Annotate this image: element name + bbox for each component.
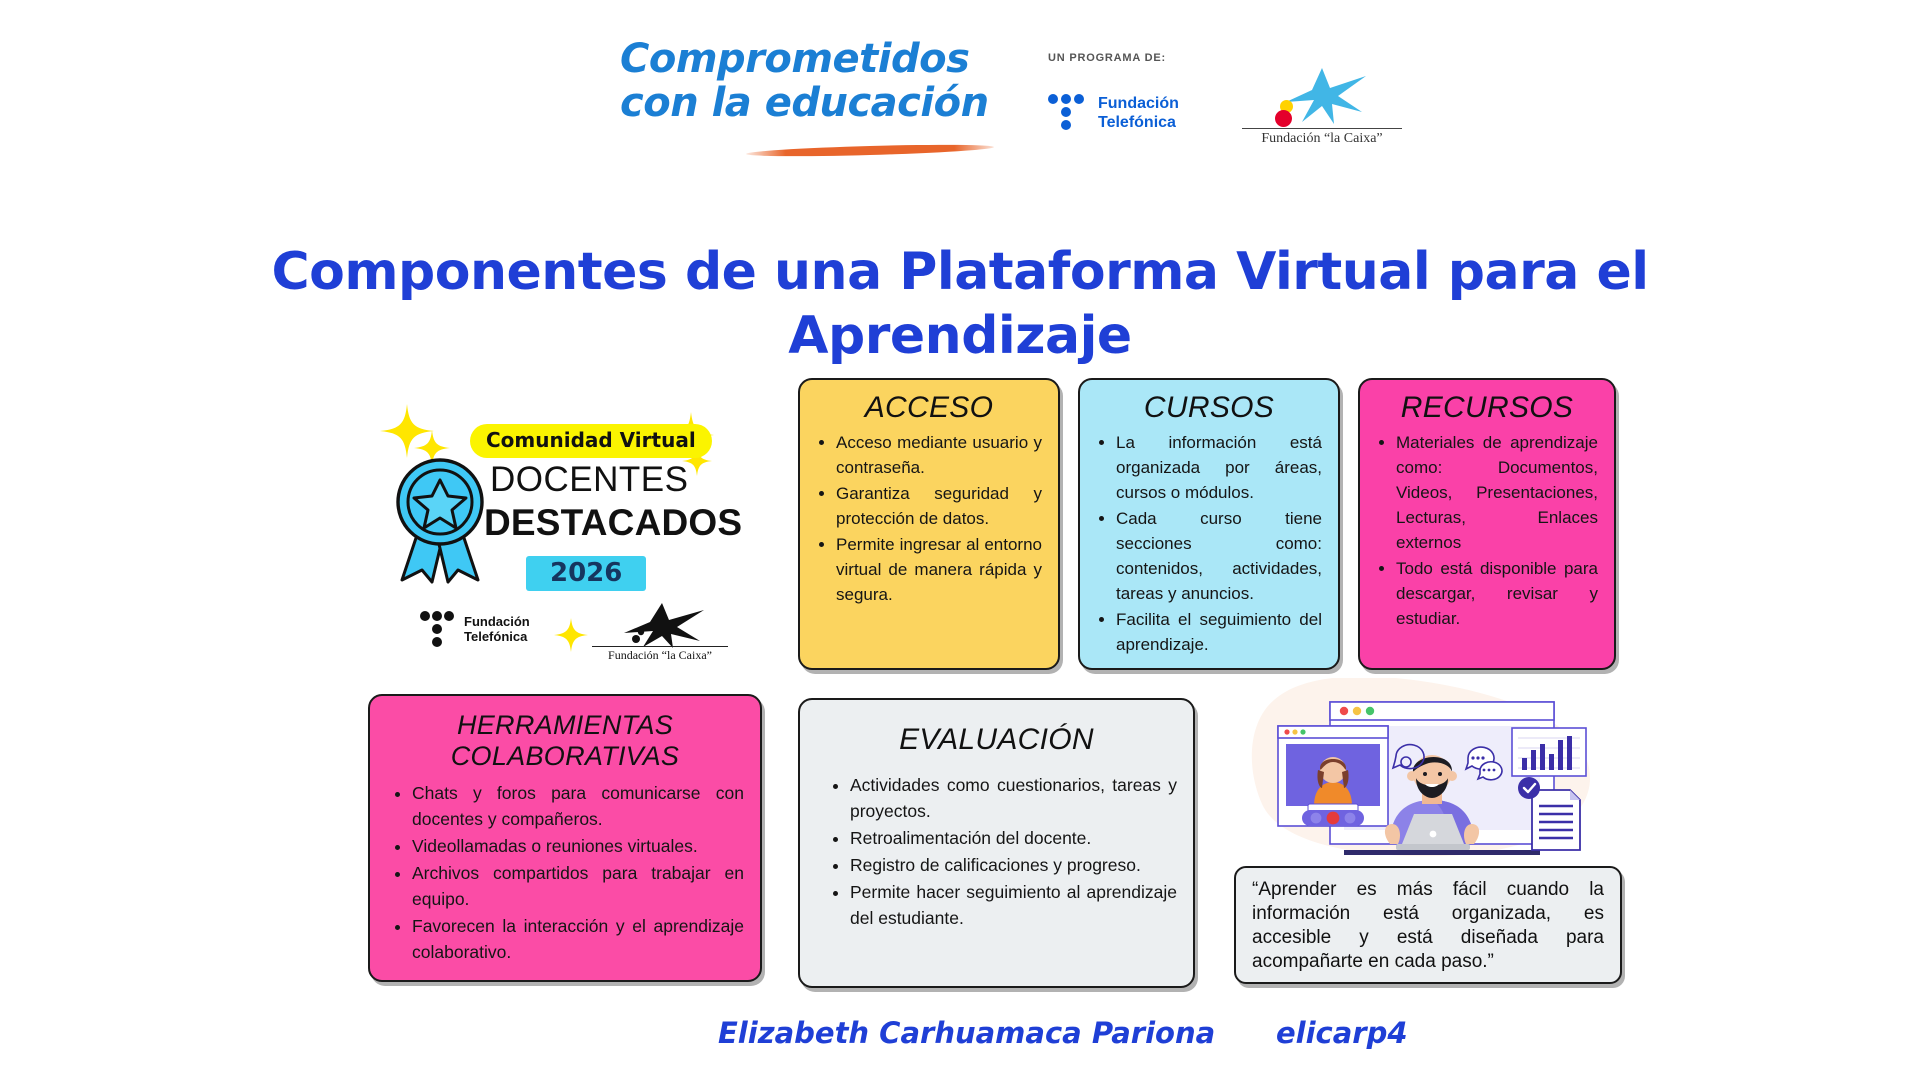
card-evaluacion: EVALUACIÓN Actividades como cuestionario… <box>798 698 1195 988</box>
list-item: Permite hacer seguimiento al aprendizaje… <box>850 879 1177 931</box>
telefonica-wordmark: Fundación Telefónica <box>1098 94 1179 132</box>
list-item: La información está organizada por áreas… <box>1116 430 1322 505</box>
docentes-destacados-badge: Comunidad Virtual DOCENTES DESTACADOS 20… <box>378 398 748 688</box>
badge-line-docentes: DOCENTES <box>490 460 688 500</box>
lacaixa-red-dot-icon <box>1275 110 1292 127</box>
card-evaluacion-list: Actividades como cuestionarios, tareas y… <box>816 772 1177 931</box>
list-item: Registro de calificaciones y progreso. <box>850 852 1177 878</box>
list-item: Garantiza seguridad y protección de dato… <box>836 481 1042 531</box>
brand-lockup: Comprometidos con la educación <box>620 36 1010 126</box>
badge-telefonica-word-2: Telefónica <box>464 629 527 644</box>
telefonica-word-2: Telefónica <box>1098 114 1176 131</box>
card-cursos-list: La información está organizada por áreas… <box>1096 430 1322 657</box>
list-item: Favorecen la interacción y el aprendizaj… <box>412 913 744 965</box>
badge-telefonica-dots-icon <box>420 611 458 651</box>
card-recursos-title: RECURSOS <box>1376 390 1598 426</box>
list-item: Cada curso tiene secciones como: conteni… <box>1116 506 1322 606</box>
list-item: Archivos compartidos para trabajar en eq… <box>412 860 744 912</box>
badge-line-destacados: DESTACADOS <box>484 502 742 544</box>
list-item: Acceso mediante usuario y contraseña. <box>836 430 1042 480</box>
quote-box: “Aprender es más fácil cuando la informa… <box>1234 866 1622 984</box>
card-herramientas-list: Chats y foros para comunicarse con docen… <box>386 780 744 965</box>
card-evaluacion-title: EVALUACIÓN <box>816 722 1177 758</box>
slide-canvas: Comprometidos con la educación UN PROGRA… <box>0 0 1920 1080</box>
list-item: Materiales de aprendizaje como: Document… <box>1396 430 1598 555</box>
sparkle-icon-5 <box>554 618 588 652</box>
badge-community-chip: Comunidad Virtual <box>470 424 712 458</box>
online-learning-illustration <box>1240 678 1602 862</box>
page-title: Componentes de una Plataforma Virtual pa… <box>260 240 1660 368</box>
list-item: Retroalimentación del docente. <box>850 825 1177 851</box>
card-acceso-title: ACCESO <box>816 390 1042 426</box>
badge-sponsor-logos: Fundación Telefónica Fundación “la Caixa… <box>378 602 748 672</box>
badge-telefonica-logo: Fundación Telefónica <box>420 608 570 656</box>
list-item: Videollamadas o reuniones virtuales. <box>412 833 744 859</box>
card-herramientas-colaborativas: HERRAMIENTAS COLABORATIVAS Chats y foros… <box>368 694 762 982</box>
telefonica-word-1: Fundación <box>1098 95 1179 112</box>
header: Comprometidos con la educación UN PROGRA… <box>0 26 1920 166</box>
footer-username: elicarp4 <box>1276 1016 1408 1050</box>
badge-lacaixa-logo: Fundación “la Caixa” <box>592 602 728 666</box>
card-herramientas-title: HERRAMIENTAS COLABORATIVAS <box>386 710 744 772</box>
brand-line-1: Comprometidos <box>620 36 1010 82</box>
list-item: Chats y foros para comunicarse con docen… <box>412 780 744 832</box>
program-label: UN PROGRAMA DE: <box>1048 52 1166 64</box>
brand-line-2: con la educación <box>620 80 1010 126</box>
telefonica-dots-icon <box>1048 94 1092 138</box>
brand-underline-stroke <box>746 143 994 159</box>
medal-ribbon-icon <box>388 456 492 584</box>
fundacion-lacaixa-logo: Fundación “la Caixa” <box>1242 66 1402 156</box>
list-item: Facilita el seguimiento del aprendizaje. <box>1116 607 1322 657</box>
card-recursos-list: Materiales de aprendizaje como: Document… <box>1376 430 1598 631</box>
badge-telefonica-word-1: Fundación <box>464 614 530 629</box>
list-item: Permite ingresar al entorno virtual de m… <box>836 532 1042 607</box>
card-cursos-title: CURSOS <box>1096 390 1322 426</box>
header-inner: Comprometidos con la educación UN PROGRA… <box>620 26 1340 166</box>
list-item: Todo está disponible para descargar, rev… <box>1396 556 1598 631</box>
card-recursos: RECURSOS Materiales de aprendizaje como:… <box>1358 378 1616 670</box>
card-acceso-list: Acceso mediante usuario y contraseña. Ga… <box>816 430 1042 607</box>
badge-lacaixa-wordmark: Fundación “la Caixa” <box>592 646 728 663</box>
lacaixa-wordmark: Fundación “la Caixa” <box>1242 128 1402 147</box>
card-acceso: ACCESO Acceso mediante usuario y contras… <box>798 378 1060 670</box>
badge-telefonica-wordmark: Fundación Telefónica <box>464 614 530 644</box>
card-cursos: CURSOS La información está organizada po… <box>1078 378 1340 670</box>
list-item: Actividades como cuestionarios, tareas y… <box>850 772 1177 824</box>
badge-year-chip: 2026 <box>526 556 646 591</box>
fundacion-telefonica-logo: Fundación Telefónica <box>1048 88 1218 142</box>
footer-author-name: Elizabeth Carhuamaca Pariona <box>718 1016 1215 1050</box>
